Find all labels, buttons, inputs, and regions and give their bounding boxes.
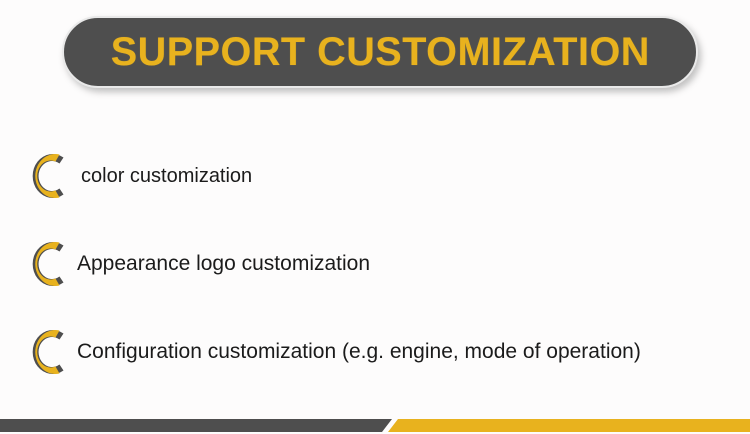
list-item: Configuration customization (e.g. engine… xyxy=(0,308,750,396)
bottom-bar-right-segment xyxy=(388,419,750,432)
bullet-list: color customization Appearance logo cust… xyxy=(0,132,750,396)
list-item-label: Appearance logo customization xyxy=(77,252,370,276)
list-item-label: Configuration customization (e.g. engine… xyxy=(77,340,641,364)
slide-canvas: SUPPORT CUSTOMIZATION color customizatio… xyxy=(0,0,750,434)
title-banner: SUPPORT CUSTOMIZATION xyxy=(62,16,698,88)
c-arc-bullet-icon xyxy=(29,148,75,204)
list-item: color customization xyxy=(0,132,750,220)
list-item: Appearance logo customization xyxy=(0,220,750,308)
bottom-bar-left-segment xyxy=(0,419,392,432)
page-title: SUPPORT CUSTOMIZATION xyxy=(110,32,649,72)
list-item-label: color customization xyxy=(81,165,252,188)
bottom-decoration-bar xyxy=(0,419,750,432)
c-arc-bullet-icon xyxy=(29,324,75,380)
c-arc-bullet-icon xyxy=(29,236,75,292)
